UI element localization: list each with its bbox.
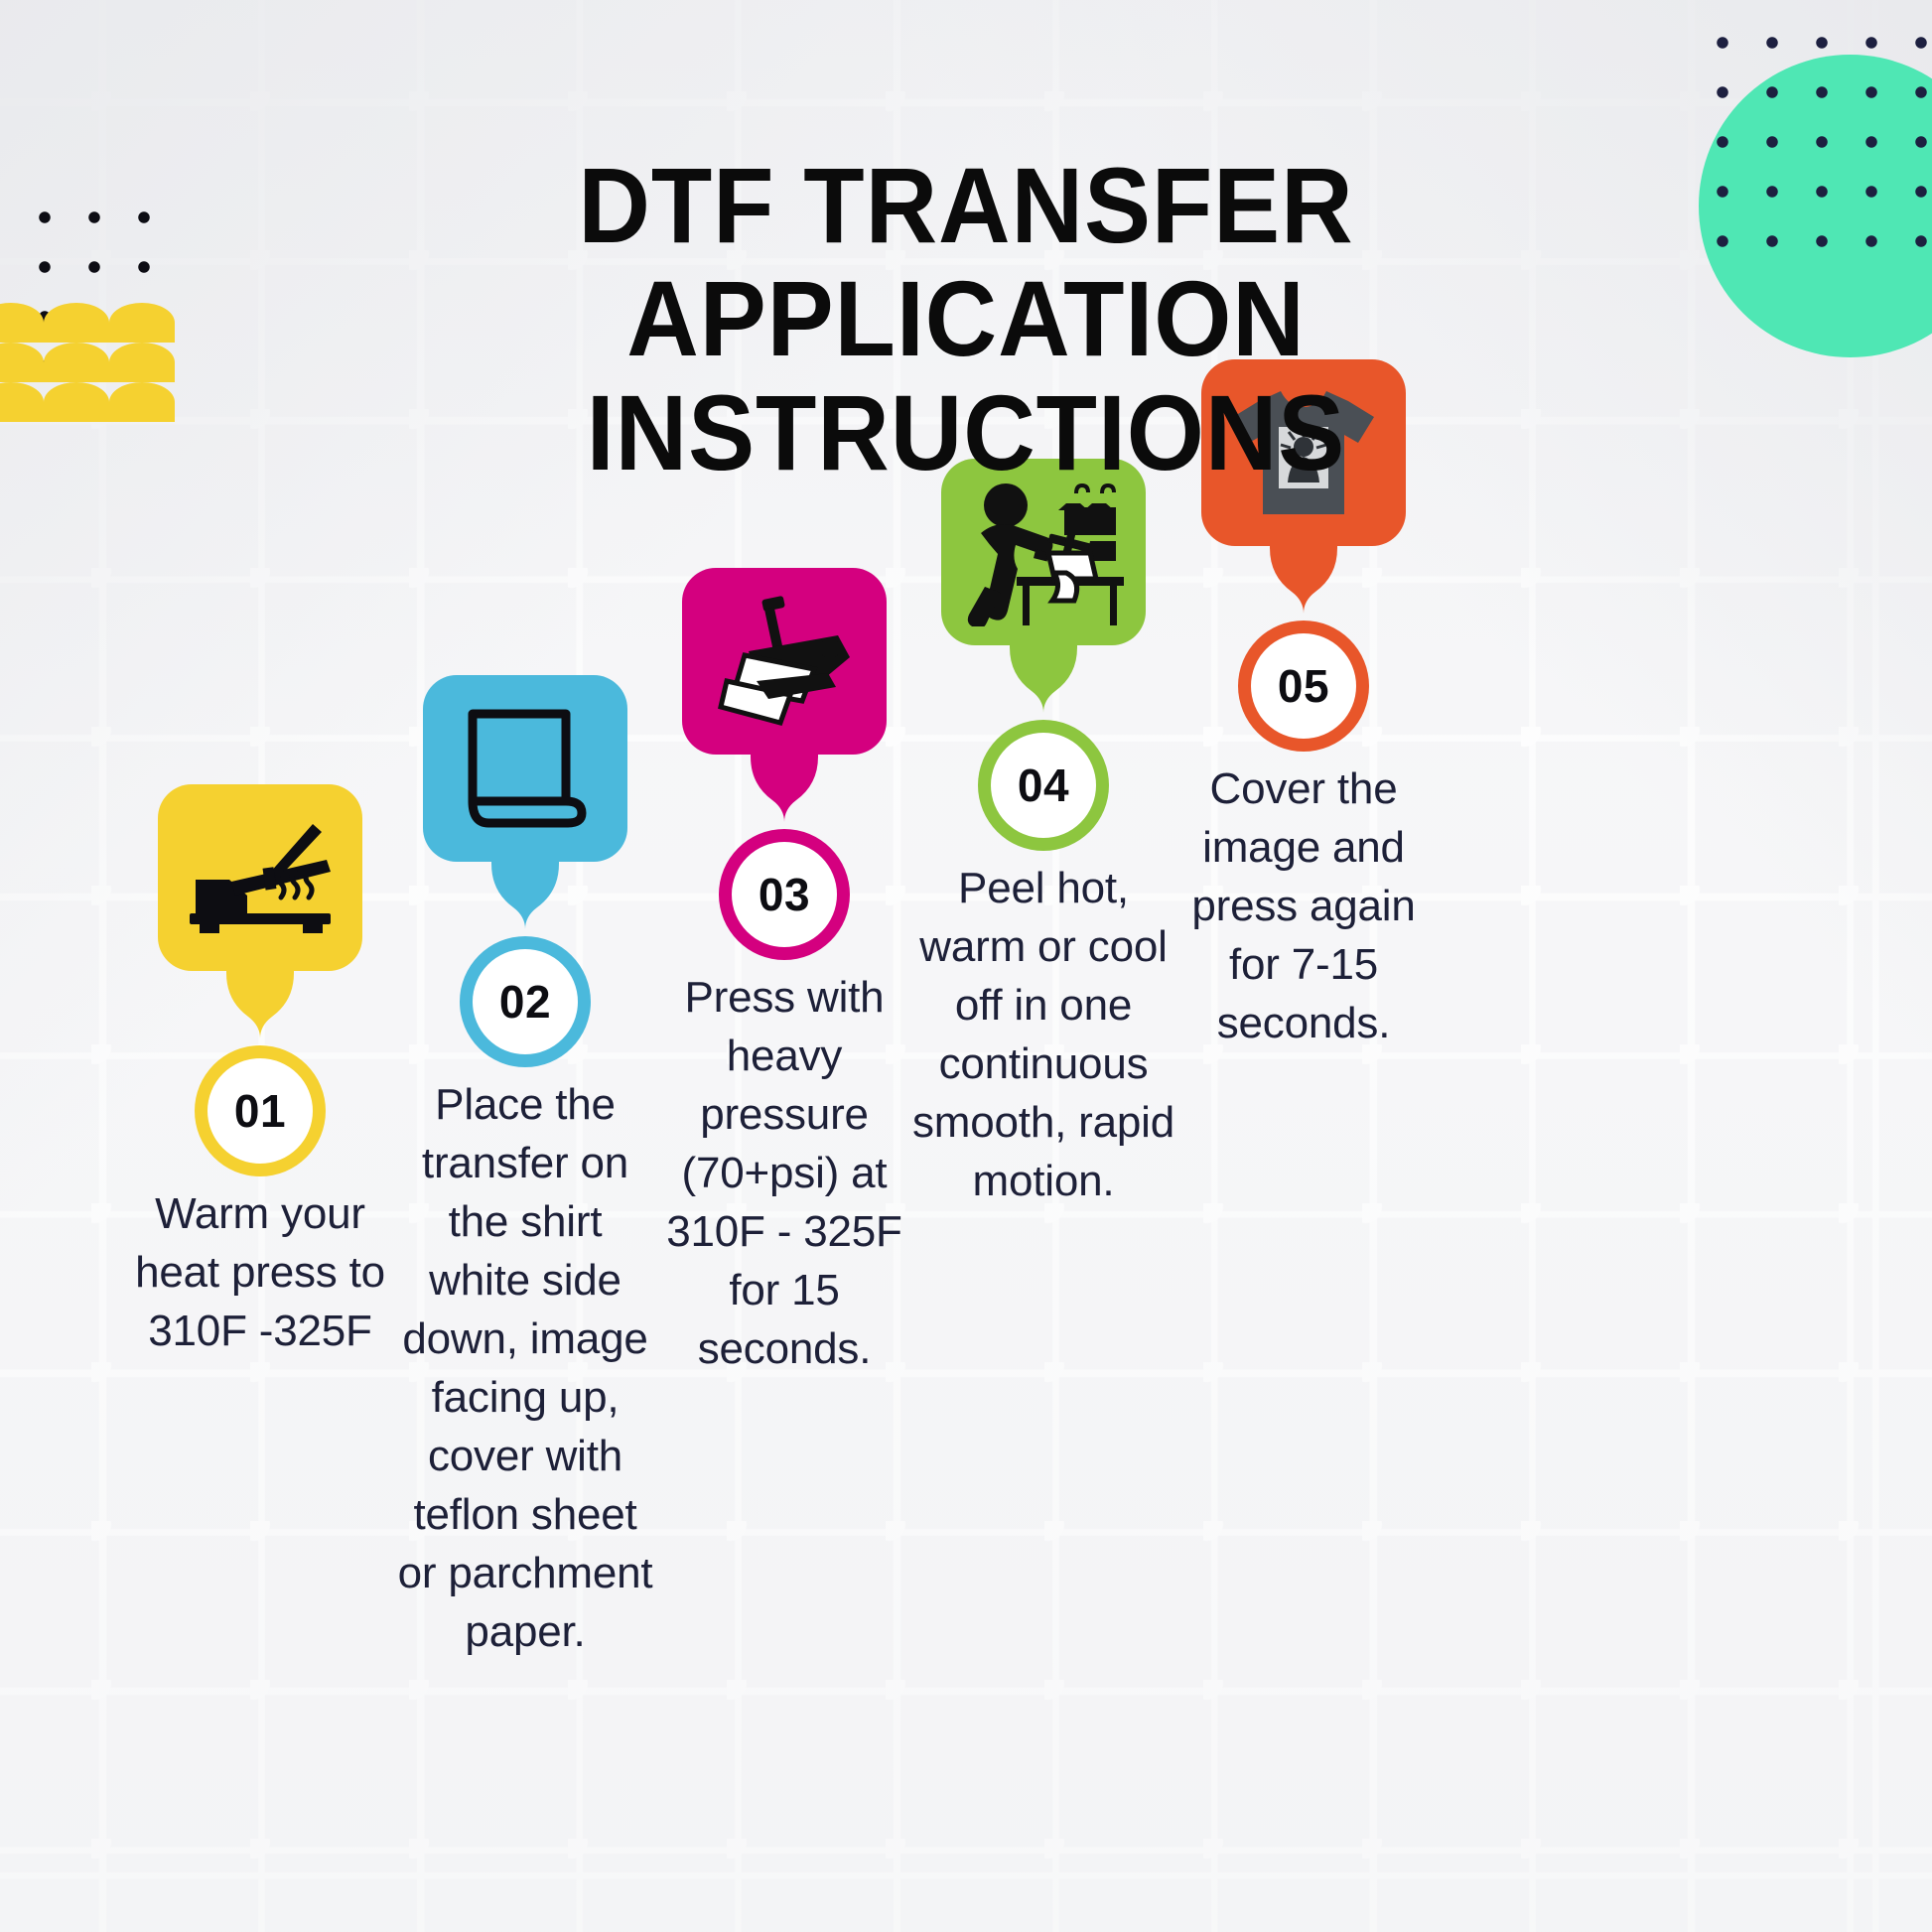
step-number-badge-05: 05 xyxy=(1251,633,1356,739)
step-icon-card-01 xyxy=(158,784,362,971)
step-number-05: 05 xyxy=(1278,659,1329,713)
step-number-badge-01: 01 xyxy=(207,1058,313,1164)
step-description-01: Warm your heat press to 310F -325F xyxy=(128,1185,392,1361)
peel-worker-icon xyxy=(963,478,1124,626)
step-number-04: 04 xyxy=(1018,759,1069,812)
transfer-sheet-icon xyxy=(463,706,588,831)
step-item-01: 01 Warm your heat press to 310F -325F xyxy=(128,784,392,1361)
step-description-02: Place the transfer on the shirt white si… xyxy=(393,1076,657,1662)
step-description-05: Cover the image and press again for 7-15… xyxy=(1172,760,1436,1053)
step-item-04: 04 Peel hot, warm or cool off in one con… xyxy=(911,459,1175,1211)
step-icon-card-02 xyxy=(423,675,627,862)
step-item-02: 02 Place the transfer on the shirt white… xyxy=(393,675,657,1662)
step-number-01: 01 xyxy=(234,1084,286,1138)
heat-press-icon xyxy=(186,822,335,933)
step-item-03: 03 Press with heavy pressure (70+psi) at… xyxy=(652,568,916,1379)
step-description-03: Press with heavy pressure (70+psi) at 31… xyxy=(652,969,916,1379)
press-pressure-icon xyxy=(711,596,858,727)
step-number-02: 02 xyxy=(499,975,551,1029)
step-number-badge-04: 04 xyxy=(991,733,1096,838)
page-title: DTF TRANSFER APPLICATION INSTRUCTIONS xyxy=(68,149,1864,489)
step-icon-card-03 xyxy=(682,568,887,755)
step-description-04: Peel hot, warm or cool off in one contin… xyxy=(911,860,1175,1211)
step-number-badge-02: 02 xyxy=(473,949,578,1054)
step-number-badge-03: 03 xyxy=(732,842,837,947)
step-number-03: 03 xyxy=(759,868,810,921)
